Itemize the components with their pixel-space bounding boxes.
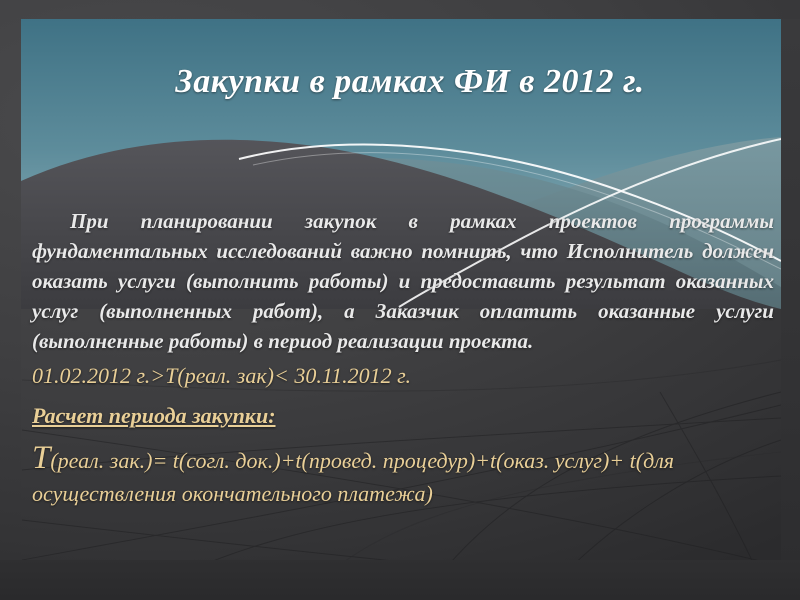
section-heading-calculation-period: Расчет периода закупки: bbox=[32, 400, 780, 432]
slide-title: Закупки в рамках ФИ в 2012 г. bbox=[60, 62, 760, 102]
slide-body-text: При планировании закупок в рамках проект… bbox=[32, 206, 780, 510]
date-range-line: 01.02.2012 г.>Т(реал. зак)< 30.11.2012 г… bbox=[32, 360, 780, 392]
slide-content: Закупки в рамках ФИ в 2012 г. При планир… bbox=[0, 0, 800, 600]
formula-leading-symbol: Т bbox=[32, 440, 50, 476]
presentation-slide: Закупки в рамках ФИ в 2012 г. При планир… bbox=[0, 0, 800, 600]
formula-line: Т(реал. зак.)= t(согл. док.)+t(провед. п… bbox=[32, 442, 780, 510]
intro-paragraph: При планировании закупок в рамках проект… bbox=[32, 206, 780, 356]
formula-expression: (реал. зак.)= t(согл. док.)+t(провед. пр… bbox=[32, 448, 674, 506]
